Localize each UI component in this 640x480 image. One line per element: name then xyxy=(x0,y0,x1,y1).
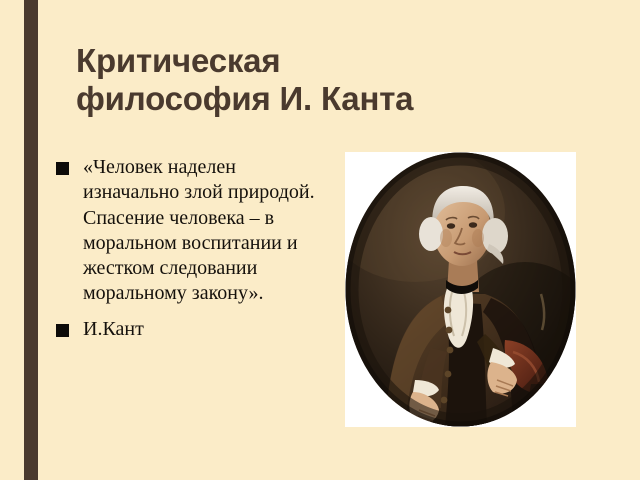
list-item: «Человек наделен изначально злой природо… xyxy=(56,155,318,307)
portrait-of-immanuel-kant-image xyxy=(345,152,576,427)
left-accent-bar xyxy=(24,0,38,480)
list-item: И.Кант xyxy=(56,317,318,342)
bullet-quote-text: «Человек наделен изначально злой природо… xyxy=(83,155,318,307)
square-bullet-icon xyxy=(56,324,69,337)
bullet-list: «Человек наделен изначально злой природо… xyxy=(56,155,318,352)
slide-title: Критическая философия И. Канта xyxy=(76,42,596,118)
square-bullet-icon xyxy=(56,162,69,175)
slide: Критическая философия И. Канта «Человек … xyxy=(0,0,640,480)
bullet-attribution-text: И.Кант xyxy=(83,317,318,342)
portrait-frame xyxy=(345,152,576,427)
